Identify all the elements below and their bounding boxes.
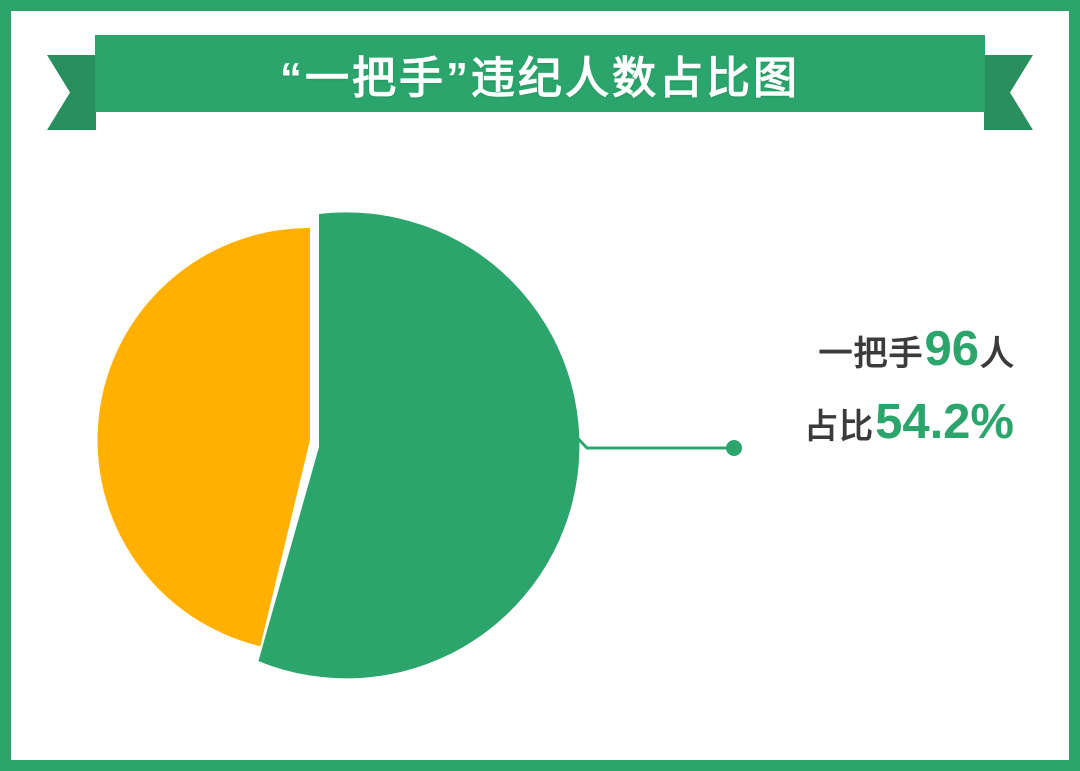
page-title: “一把手”违纪人数占比图 bbox=[95, 35, 985, 112]
pie-chart bbox=[60, 150, 620, 730]
callout-line-percent: 占比 54.2% bbox=[755, 398, 1015, 447]
infographic-page: “一把手”违纪人数占比图 一把手 96 人 占比 54.2% bbox=[0, 0, 1080, 771]
callout-leader-line bbox=[540, 400, 770, 480]
leader-dot bbox=[726, 440, 742, 456]
title-banner: “一把手”违纪人数占比图 bbox=[0, 0, 1080, 150]
callout-count-suffix: 人 bbox=[980, 337, 1015, 371]
callout-label: 一把手 96 人 占比 54.2% bbox=[755, 325, 1015, 447]
leader-polyline bbox=[560, 420, 730, 448]
pie-slice-other bbox=[98, 228, 310, 646]
callout-count-value: 96 bbox=[924, 325, 979, 374]
callout-count-prefix: 一把手 bbox=[818, 337, 923, 371]
callout-line-count: 一把手 96 人 bbox=[755, 325, 1015, 374]
callout-percent-prefix: 占比 bbox=[804, 410, 874, 444]
ribbon-tail-right bbox=[984, 55, 1033, 130]
ribbon-tail-left bbox=[47, 55, 96, 130]
callout-percent-value: 54.2% bbox=[875, 398, 1014, 447]
